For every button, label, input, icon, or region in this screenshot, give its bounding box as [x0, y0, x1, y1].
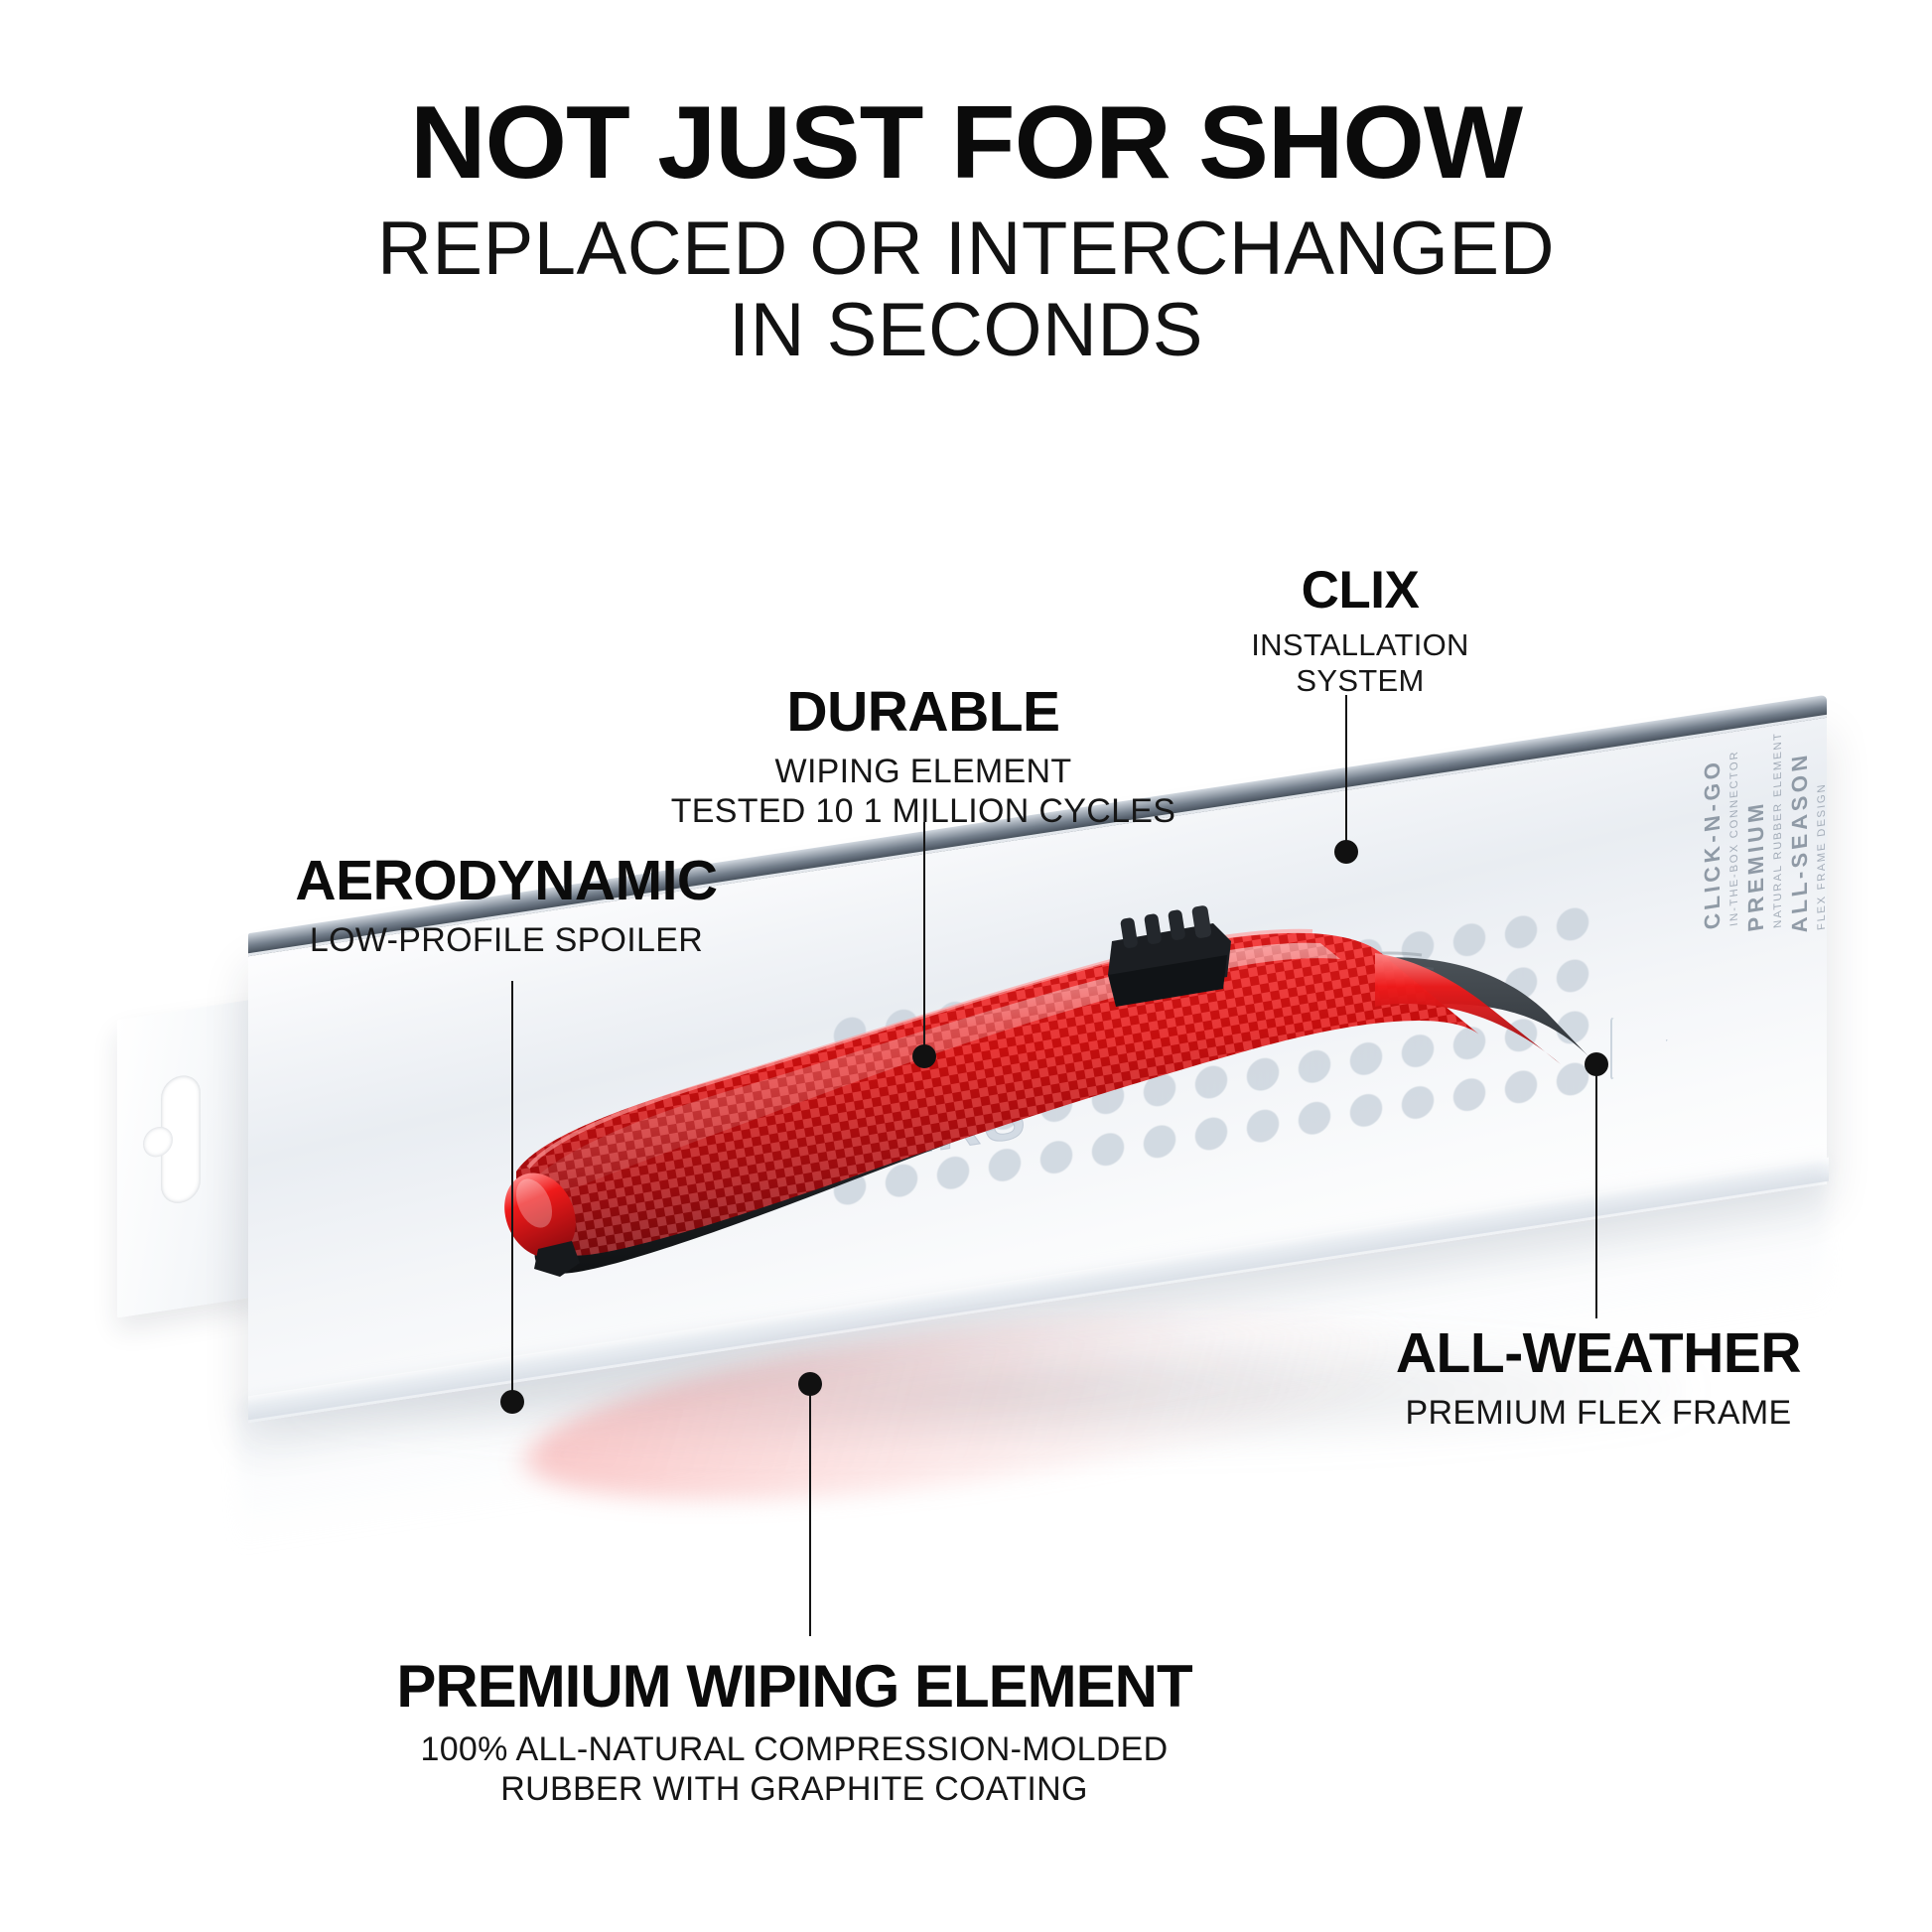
- callout-durable-subtitle: WIPING ELEMENT TESTED 10 1 MILLION CYCLE…: [566, 753, 1281, 831]
- callout-premium-subtitle: 100% ALL-NATURAL COMPRESSION-MOLDED RUBB…: [179, 1730, 1410, 1809]
- package-spec-all-season: ALL-SEASON FLEX FRAME DESIGN: [1787, 748, 1828, 935]
- callout-clix-subtitle-line-1: INSTALLATION: [1112, 627, 1608, 663]
- callout-all-weather-title: ALL-WEATHER: [1261, 1324, 1932, 1382]
- callout-clix-title: CLIX: [1112, 564, 1608, 618]
- headline-subtitle-line-1: REPLACED OR INTERCHANGED: [0, 208, 1932, 290]
- package-hang-tab: [117, 998, 266, 1318]
- callout-premium-subtitle-line-1: 100% ALL-NATURAL COMPRESSION-MOLDED: [179, 1730, 1410, 1769]
- headline-main: NOT JUST FOR SHOW: [0, 91, 1932, 195]
- callout-all-weather: ALL-WEATHER PREMIUM FLEX FRAME: [1261, 1324, 1932, 1434]
- infographic-page: NOT JUST FOR SHOW REPLACED OR INTERCHANG…: [0, 0, 1932, 1932]
- leader-line-aerodynamic: [511, 981, 513, 1398]
- callout-all-weather-subtitle-line-1: PREMIUM FLEX FRAME: [1261, 1394, 1932, 1433]
- callout-clix-subtitle-line-2: SYSTEM: [1112, 663, 1608, 699]
- callout-premium-title: PREMIUM WIPING ELEMENT: [179, 1656, 1410, 1717]
- callout-aerodynamic-subtitle-line-1: LOW-PROFILE SPOILER: [129, 921, 884, 960]
- package-spec-premium: PREMIUM NATURAL RUBBER ELEMENT: [1743, 731, 1784, 933]
- headline-subtitle-line-2: IN SECONDS: [0, 290, 1932, 371]
- leader-line-clix: [1345, 695, 1347, 848]
- leader-dot-durable: [912, 1044, 936, 1068]
- leader-line-premium: [809, 1390, 811, 1636]
- callout-all-weather-subtitle: PREMIUM FLEX FRAME: [1261, 1394, 1932, 1433]
- callout-clix: CLIX INSTALLATION SYSTEM: [1112, 564, 1608, 699]
- headline-block: NOT JUST FOR SHOW REPLACED OR INTERCHANG…: [0, 91, 1932, 371]
- callout-durable-subtitle-line-1: WIPING ELEMENT: [566, 753, 1281, 791]
- callout-aerodynamic: AERODYNAMIC LOW-PROFILE SPOILER: [129, 852, 884, 961]
- hang-tab-euro-slot: [161, 1073, 201, 1206]
- callout-aerodynamic-title: AERODYNAMIC: [129, 852, 884, 909]
- callout-aerodynamic-subtitle: LOW-PROFILE SPOILER: [129, 921, 884, 960]
- leader-dot-clix: [1334, 840, 1358, 864]
- headline-subtitle: REPLACED OR INTERCHANGED IN SECONDS: [0, 208, 1932, 371]
- callout-clix-subtitle: INSTALLATION SYSTEM: [1112, 627, 1608, 699]
- leader-dot-all-weather: [1585, 1052, 1608, 1076]
- callout-durable: DURABLE WIPING ELEMENT TESTED 10 1 MILLI…: [566, 683, 1281, 831]
- package-spec-click-n-go: CLICK-N-GO IN-THE-BOX CONNECTOR: [1700, 749, 1740, 931]
- callout-premium-subtitle-line-2: RUBBER WITH GRAPHITE COATING: [179, 1770, 1410, 1809]
- leader-line-durable: [923, 822, 925, 1052]
- leader-line-all-weather: [1595, 1072, 1597, 1318]
- leader-dot-premium: [798, 1372, 822, 1396]
- leader-dot-aerodynamic: [500, 1390, 524, 1414]
- callout-premium-wiping-element: PREMIUM WIPING ELEMENT 100% ALL-NATURAL …: [179, 1656, 1410, 1809]
